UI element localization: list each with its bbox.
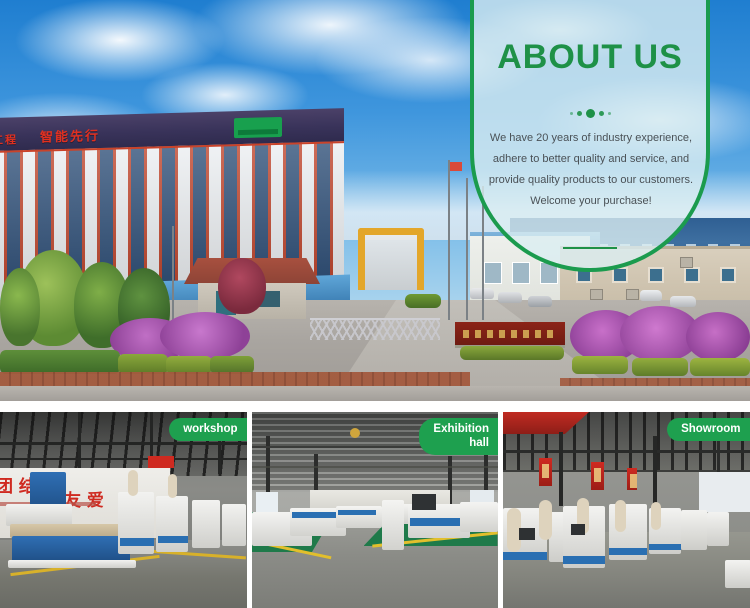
dust-hose [615,500,626,532]
air-conditioner-unit [590,289,603,300]
hedge [632,358,688,376]
hero-factory-photo: 工程 智能先行 [0,0,750,401]
tree [0,268,40,346]
yellow-gantry-frame [358,228,424,290]
workshop-photo[interactable]: 团 结 友 爱 workshop [0,412,247,608]
about-us-panel: ABOUT US We have 20 years of industry ex… [470,0,710,272]
window [512,262,530,284]
roof-truss [252,466,499,468]
machine [460,502,498,532]
parked-car [498,292,522,303]
hedge [118,354,168,374]
window [684,267,700,283]
control-screen [571,524,585,535]
about-line-1: We have 20 years of industry experience, [484,128,698,149]
flowering-shrub [686,312,750,362]
cnc-machine-arm [6,504,72,526]
ornamental-tree [218,258,266,314]
badge-label: Showroom [681,423,740,435]
machine-blue-trim [158,536,188,543]
hedge [572,356,628,374]
machine-cabinet [192,500,220,548]
machine-blue-trim [503,552,547,560]
exhibition-hall-badge[interactable]: Exhibition hall [419,418,498,455]
machine-blue-trim [292,512,336,518]
air-conditioner-unit [626,289,639,300]
parked-car [670,296,696,307]
showroom-photo[interactable]: Showroom [503,412,750,608]
machine-cabinet [382,500,404,550]
machine-blue-trim [649,544,681,550]
red-sign [148,456,174,468]
dust-hose [168,474,177,498]
divider-dot [577,111,582,116]
dot-divider [474,107,706,119]
flowering-shrub [160,312,250,360]
machine-blue-trim [410,518,468,526]
machine-cabinet [707,512,729,546]
roof-truss [503,450,750,453]
window [699,472,750,512]
bottom-accent-rule [563,247,617,249]
hedge [405,294,441,308]
machine-cabinet [222,504,246,546]
roof-column [78,412,81,472]
workshop-badge[interactable]: workshop [169,418,246,441]
dust-hose [128,470,138,496]
machine-blue-trim [563,556,605,564]
divider-dot [608,112,611,115]
building-cn-text-2: 工程 [0,131,18,148]
ceiling-light [350,428,360,438]
machine-base [8,560,136,568]
control-screen [519,528,535,540]
about-us-description: We have 20 years of industry experience,… [484,128,698,212]
gallery-strip: 团 结 友 爱 workshop [0,412,750,608]
red-banner [591,462,604,490]
hedge [690,358,750,376]
flag [450,162,462,171]
light-pole [172,226,174,322]
parked-car [640,290,662,301]
red-banner [539,458,552,486]
exhibition-hall-photo[interactable]: Exhibition hall [252,412,499,608]
page-title: ABOUT US [474,38,706,77]
curb [0,386,750,401]
divider-dot [586,109,595,118]
hedge [0,350,120,374]
about-us-page: 工程 智能先行 [0,0,750,608]
showroom-badge[interactable]: Showroom [667,418,749,441]
red-banner [627,468,637,490]
divider-dot [570,112,573,115]
window [648,267,664,283]
building-cn-text-1: 智能先行 [40,125,100,146]
window [484,262,502,284]
monitor [412,494,436,510]
hedge [460,346,564,360]
machine-cabinet [725,560,750,588]
roof-column [559,432,563,506]
dust-hose [651,502,661,530]
cnc-machine-bed [12,536,130,562]
flag-pole [448,160,450,320]
company-logo-badge [234,117,282,138]
machine-blue-trim [120,538,154,546]
entrance-stone-sign [455,322,565,348]
roof-truss [0,458,247,460]
machine-blue-trim [609,548,647,555]
parked-car [528,296,552,307]
machine-cabinet [681,510,707,550]
badge-label: workshop [183,423,237,435]
machine-blue-trim [338,510,376,515]
retractable-gate [310,318,440,340]
roof-column [653,436,657,506]
about-line-3: provide quality products to our customer… [484,170,698,191]
about-line-4: Welcome your purchase! [484,191,698,212]
machine-cabinet [156,496,188,552]
flag-pole [466,178,468,320]
window [720,267,736,283]
divider-dot [599,111,604,116]
roof-truss [0,442,247,445]
air-conditioner-unit [680,257,693,268]
dust-hose [539,500,552,540]
badge-label-line2: hall [469,437,489,449]
about-line-2: adhere to better quality and service, an… [484,149,698,170]
badge-label-line1: Exhibition [433,423,489,435]
